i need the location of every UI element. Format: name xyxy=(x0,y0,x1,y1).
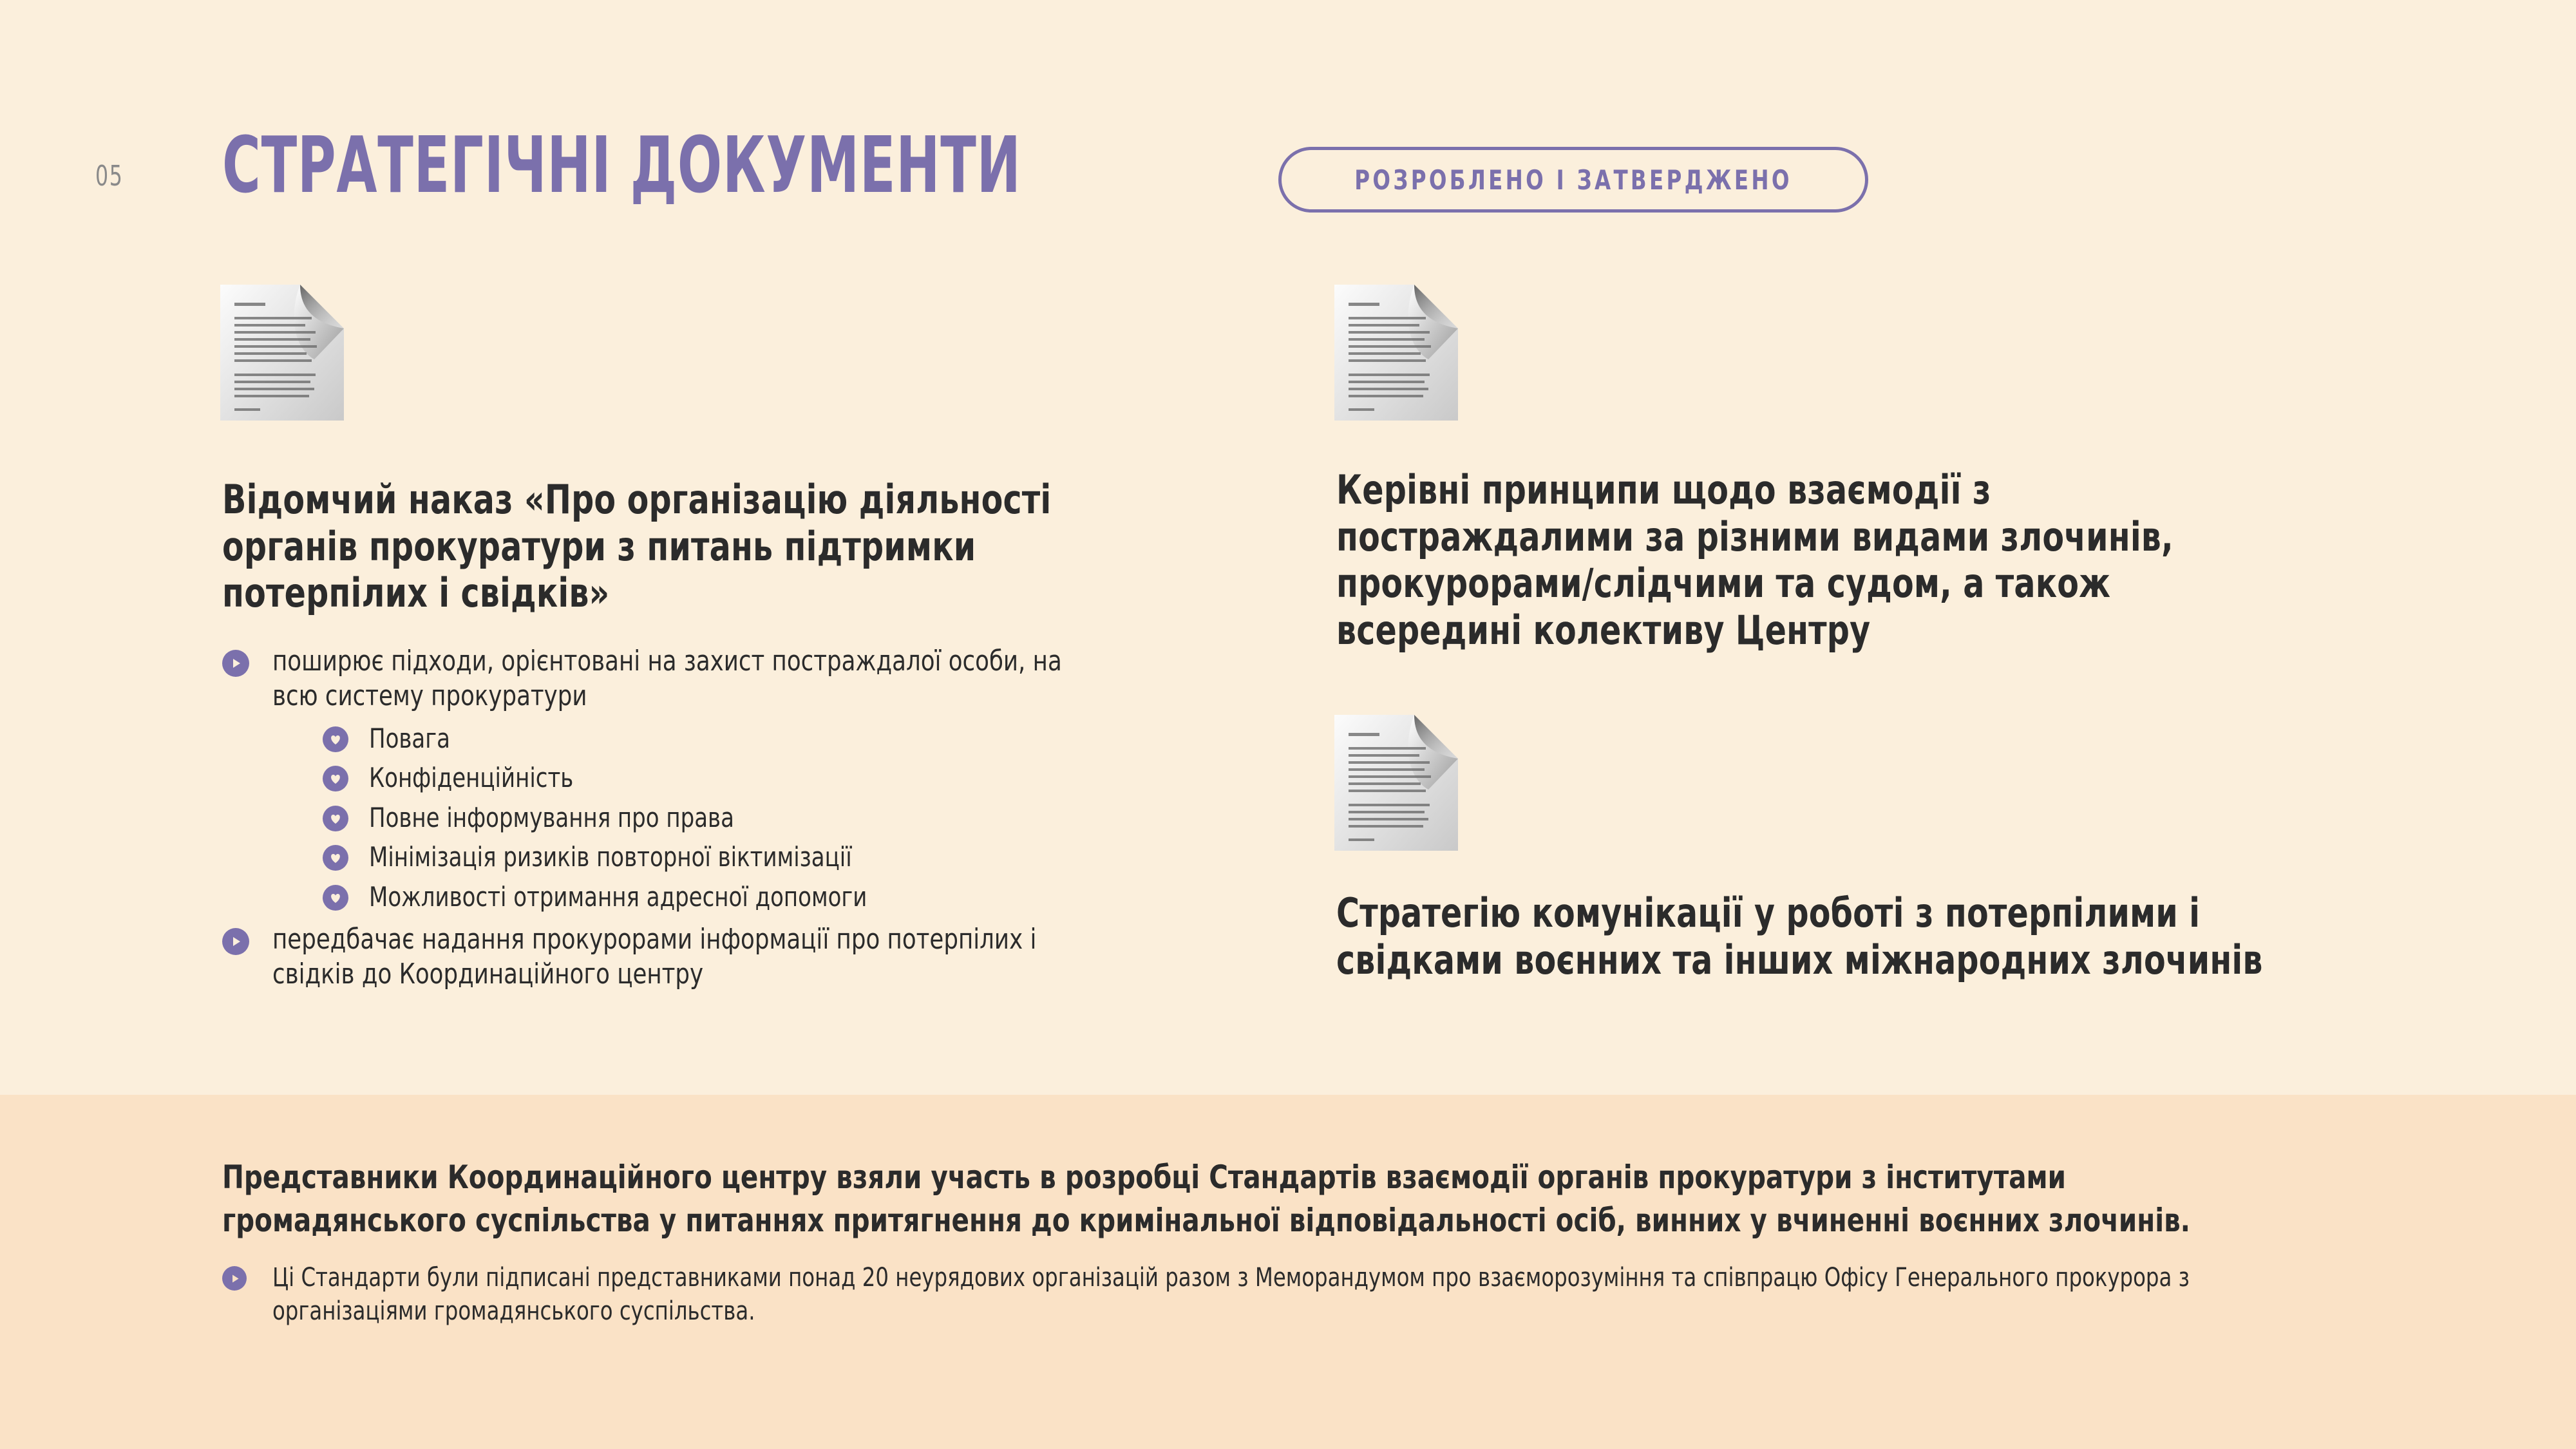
document-icon xyxy=(1332,714,1461,852)
list-item: Ці Стандарти були підписані представника… xyxy=(222,1261,2412,1328)
right-column-block-1: Керівні принципи щодо взаємодії з постра… xyxy=(1336,467,2418,654)
left-bullet-list: поширює підходи, орієнтовані на захист п… xyxy=(222,644,1201,992)
heart-circle-icon xyxy=(323,766,348,791)
list-item: Конфіденційність xyxy=(323,762,1201,794)
slide-canvas: 05 СТРАТЕГІЧНІ ДОКУМЕНТИ РОЗРОБЛЕНО І ЗА… xyxy=(0,0,2576,1449)
status-badge: РОЗРОБЛЕНО І ЗАТВЕРДЖЕНО xyxy=(1278,147,1868,213)
right-block-heading: Стратегію комунікації у роботі з потерпі… xyxy=(1336,890,2288,983)
list-item: передбачає надання прокурорами інформаці… xyxy=(222,922,1201,992)
banner-lead-text: Представники Координаційного центру взял… xyxy=(222,1156,2193,1242)
list-item: Можливості отримання адресної допомоги xyxy=(323,881,1201,913)
page-title: СТРАТЕГІЧНІ ДОКУМЕНТИ xyxy=(222,128,1021,205)
bullet-text: Ці Стандарти були підписані представника… xyxy=(272,1261,2198,1328)
heart-circle-icon xyxy=(323,726,348,752)
heart-circle-icon xyxy=(323,845,348,871)
right-column-block-2: Стратегію комунікації у роботі з потерпі… xyxy=(1336,890,2418,983)
list-item: Повага xyxy=(323,723,1201,755)
sub-bullet-text: Можливості отримання адресної допомоги xyxy=(369,881,1118,913)
banner-content: Представники Координаційного центру взял… xyxy=(222,1156,2412,1331)
list-item: Повне інформування про права xyxy=(323,802,1201,834)
sub-bullet-text: Повне інформування про права xyxy=(369,802,1118,834)
page-number: 05 xyxy=(95,160,123,193)
play-circle-icon xyxy=(222,1266,247,1291)
status-badge-label: РОЗРОБЛЕНО І ЗАТВЕРДЖЕНО xyxy=(1354,164,1792,196)
left-sub-bullet-list: Повага Конфіденційність Повне інформуван… xyxy=(323,723,1201,913)
sub-bullet-text: Повага xyxy=(369,723,1118,755)
sub-bullet-text: Мінімізація ризиків повторної віктимізац… xyxy=(369,841,1118,873)
bullet-text: передбачає надання прокурорами інформаці… xyxy=(272,922,1108,992)
play-circle-icon xyxy=(222,928,249,955)
document-icon xyxy=(218,283,346,422)
right-block-heading: Керівні принципи щодо взаємодії з постра… xyxy=(1336,467,2288,654)
document-icon xyxy=(1332,283,1461,422)
list-item: Мінімізація ризиків повторної віктимізац… xyxy=(323,841,1201,873)
bullet-text: поширює підходи, орієнтовані на захист п… xyxy=(272,644,1108,714)
play-circle-icon xyxy=(222,650,249,677)
heart-circle-icon xyxy=(323,885,348,911)
left-column: Відомчий наказ «Про організацію діяльнос… xyxy=(222,477,1201,994)
sub-bullet-text: Конфіденційність xyxy=(369,762,1118,794)
list-item: поширює підходи, орієнтовані на захист п… xyxy=(222,644,1201,913)
heart-circle-icon xyxy=(323,806,348,831)
banner-bullet-list: Ці Стандарти були підписані представника… xyxy=(222,1261,2412,1328)
left-block-heading: Відомчий наказ «Про організацію діяльнос… xyxy=(222,477,1084,617)
